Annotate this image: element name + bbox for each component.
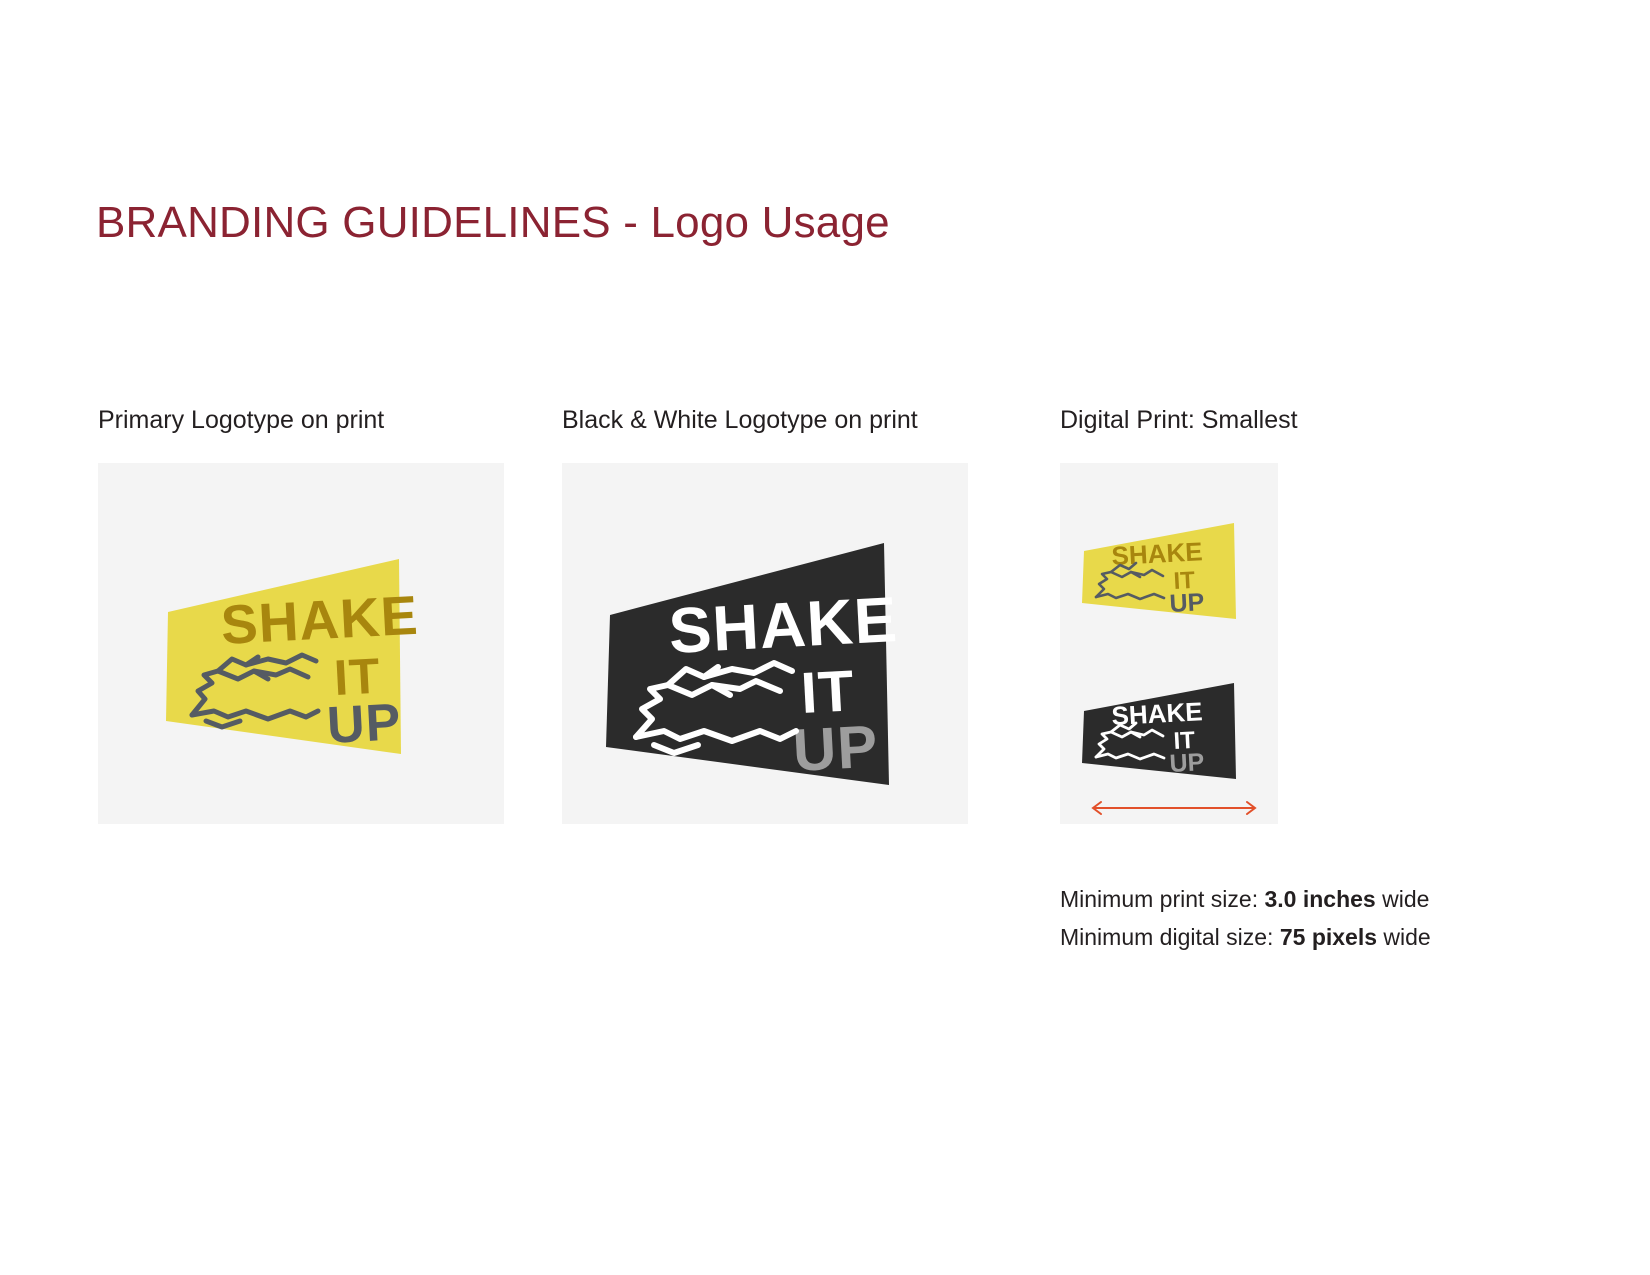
minimum-print-size-note: Minimum print size: 3.0 inches wide xyxy=(1060,880,1520,918)
minimum-print-size-value: 3.0 inches xyxy=(1264,886,1375,912)
logo-smallest-black-white: SHAKE IT UP xyxy=(1074,659,1270,791)
minimum-print-size-suffix: wide xyxy=(1376,886,1430,912)
logo-panel-black-white: SHAKE IT UP xyxy=(562,463,968,824)
logo-shape-quad xyxy=(1082,683,1236,779)
column-heading-primary: Primary Logotype on print xyxy=(98,405,510,435)
minimum-size-notes: Minimum print size: 3.0 inches wide Mini… xyxy=(1060,880,1520,956)
svg-text:SHAKE: SHAKE xyxy=(667,583,899,667)
column-black-white-logotype: Black & White Logotype on print SHAKE IT… xyxy=(562,405,974,824)
column-heading-digital-smallest: Digital Print: Smallest xyxy=(1060,405,1460,435)
logo-panel-smallest: SHAKE IT UP SHAKE IT UP xyxy=(1060,463,1278,824)
svg-text:UP: UP xyxy=(1169,748,1205,778)
minimum-digital-size-note: Minimum digital size: 75 pixels wide xyxy=(1060,918,1520,956)
minimum-digital-size-prefix: Minimum digital size: xyxy=(1060,924,1280,950)
column-heading-black-white: Black & White Logotype on print xyxy=(562,405,974,435)
logo-smallest-color: SHAKE IT UP xyxy=(1074,499,1270,631)
svg-text:UP: UP xyxy=(791,713,880,784)
page-title: BRANDING GUIDELINES - Logo Usage xyxy=(96,198,890,248)
svg-text:UP: UP xyxy=(1169,588,1205,618)
logo-black-white: SHAKE IT UP xyxy=(584,475,956,805)
minimum-print-size-prefix: Minimum print size: xyxy=(1060,886,1264,912)
svg-text:SHAKE: SHAKE xyxy=(219,584,420,656)
logo-panel-primary: SHAKE IT UP xyxy=(98,463,504,824)
svg-text:UP: UP xyxy=(326,693,403,755)
column-primary-logotype: Primary Logotype on print SHAKE IT UP xyxy=(98,405,510,824)
column-digital-print-smallest: Digital Print: Smallest SHAKE IT UP xyxy=(1060,405,1460,824)
minimum-width-arrow-icon xyxy=(1086,799,1262,817)
minimum-digital-size-value: 75 pixels xyxy=(1280,924,1377,950)
logo-primary-color: SHAKE IT UP xyxy=(150,499,456,773)
logo-shape-quad xyxy=(1082,523,1236,619)
minimum-digital-size-suffix: wide xyxy=(1377,924,1431,950)
